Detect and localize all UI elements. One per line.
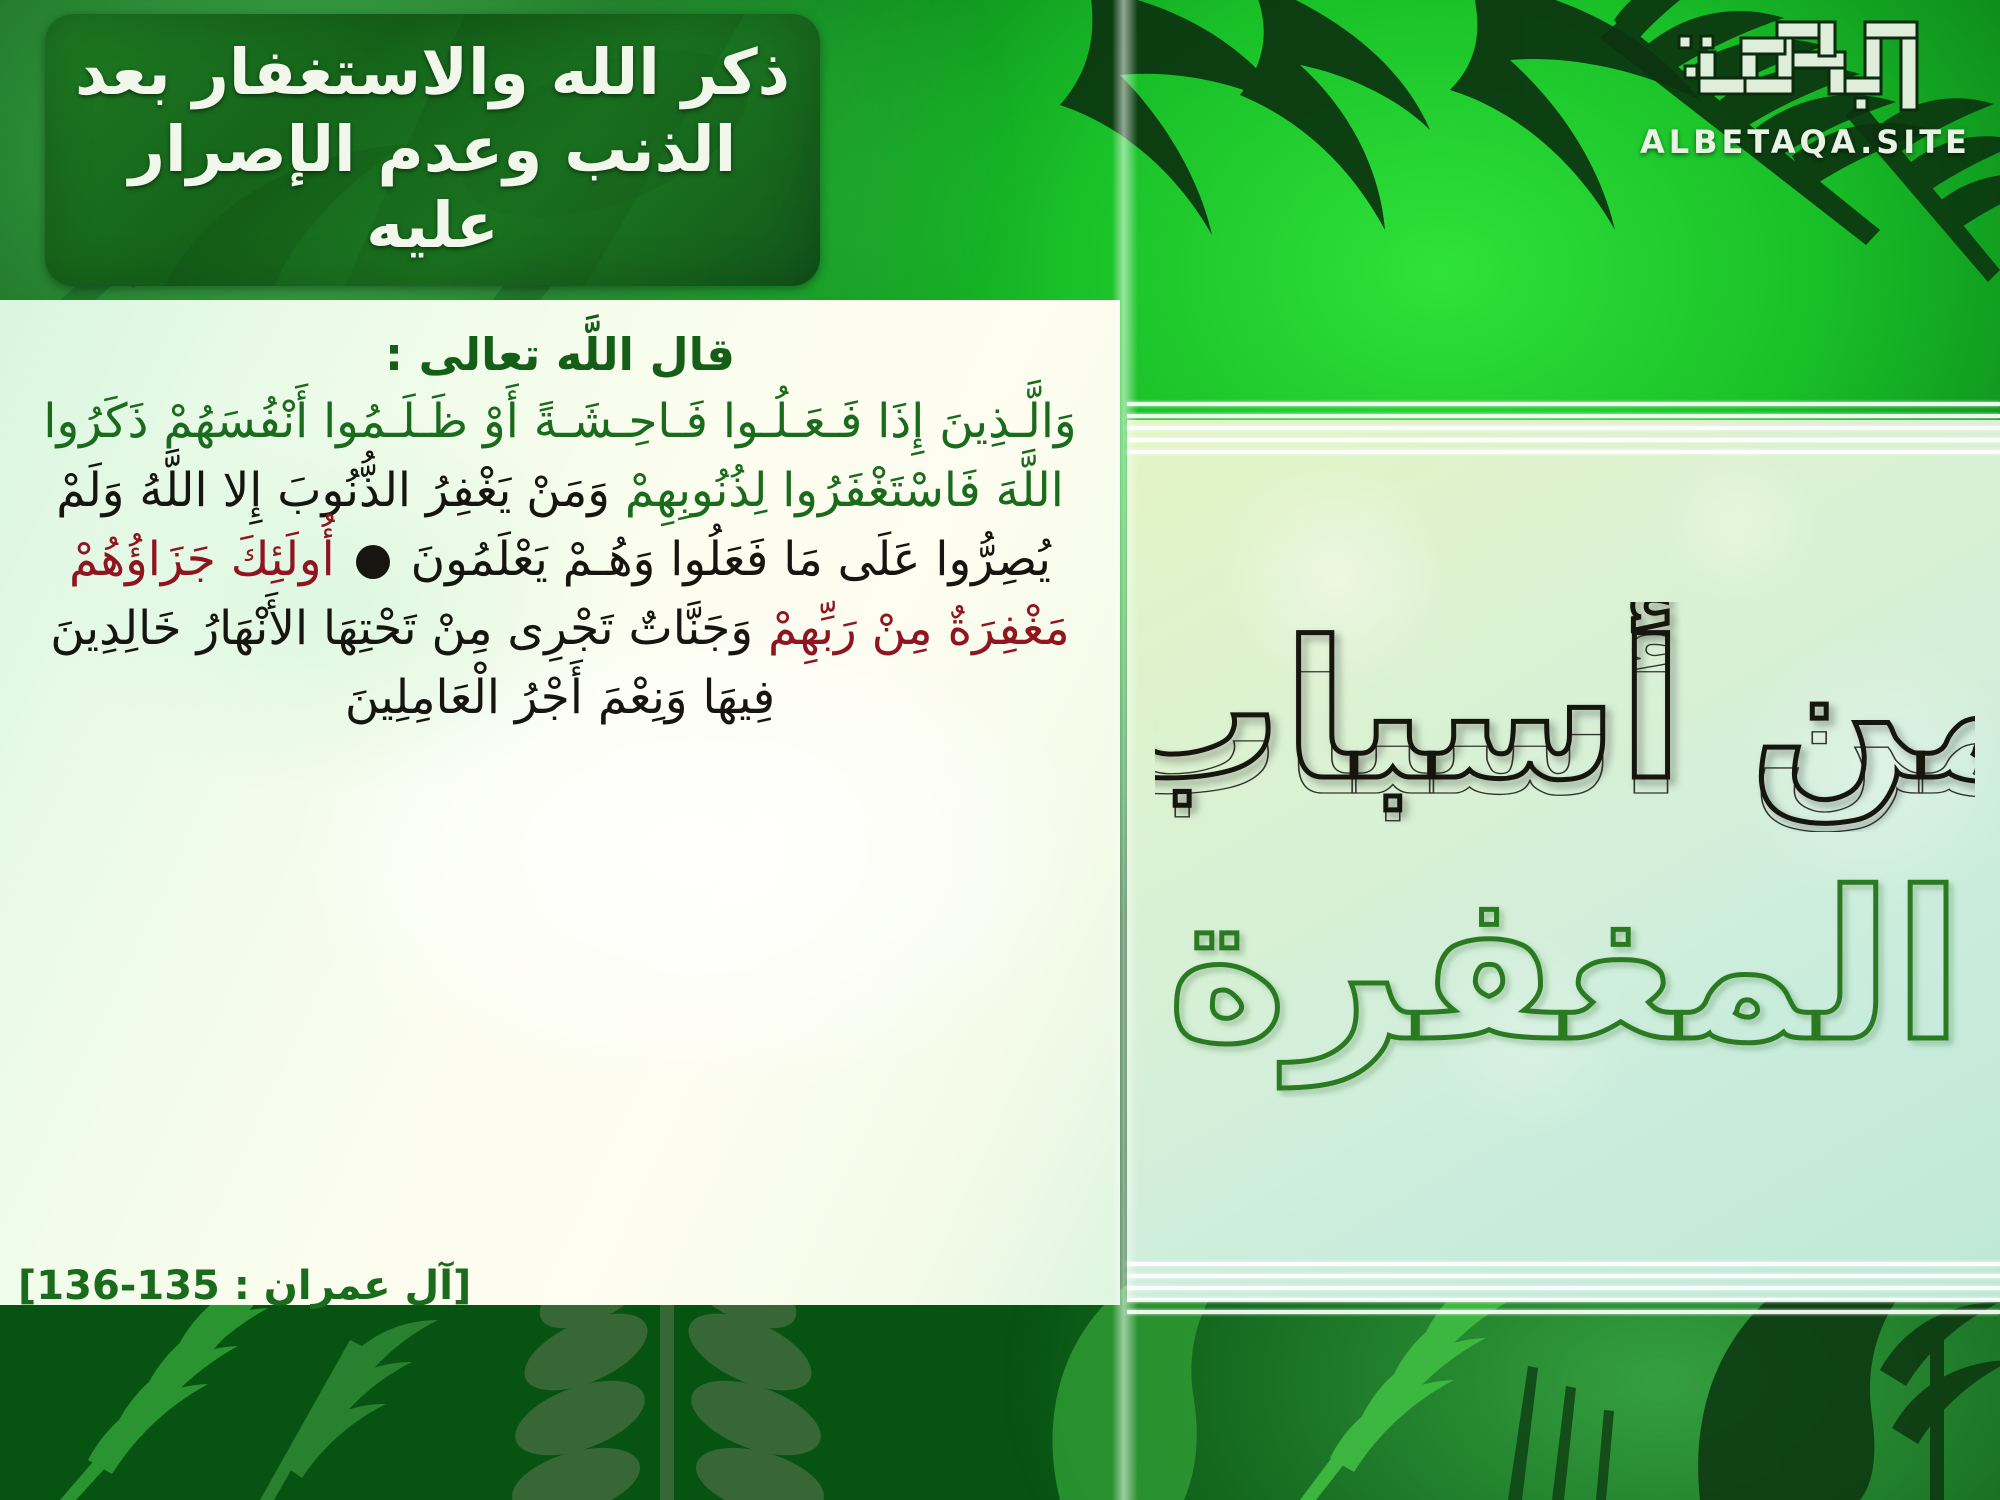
albetaqa-kufic-logo-icon bbox=[1655, 14, 1955, 119]
ayah-end-marker-icon bbox=[356, 545, 390, 579]
svg-text:المغفرة: المغفرة bbox=[1167, 849, 1963, 1088]
headline-group: من أسباب من أسباب المغفرة bbox=[1135, 440, 1995, 1260]
headline-line2-outlined: المغفرة bbox=[1155, 848, 1975, 1098]
quran-intro: قال اللَّه تعالى : bbox=[34, 328, 1086, 381]
title-banner: ذكر الله والاستغفار بعد الذنب وعدم الإصر… bbox=[45, 14, 820, 286]
svg-text:من أسباب: من أسباب bbox=[1155, 635, 1975, 832]
quran-verse: وَالَّـذِينَ إِذَا فَـعَـلُـوا فَـاحِـشَ… bbox=[34, 387, 1086, 732]
brand-logo[interactable]: ALBETAQA.SITE bbox=[1640, 14, 1970, 161]
headline-line1-outlined: من أسباب من أسباب bbox=[1155, 602, 1975, 832]
title-text: ذكر الله والاستغفار بعد الذنب وعدم الإصر… bbox=[45, 35, 820, 266]
quran-block: قال اللَّه تعالى : وَالَّـذِينَ إِذَا فَ… bbox=[0, 300, 1120, 1305]
brand-wordmark: ALBETAQA.SITE bbox=[1640, 123, 1970, 161]
verse-segment-4: وَجَنَّاتٌ تَجْرِى مِنْ تَحْتِهَا الأَنْ… bbox=[50, 601, 775, 725]
quran-citation: [آل عمران : 135-136] bbox=[18, 1263, 471, 1309]
infographic-card: من أسباب من أسباب المغفرة قال اللَّه تعا… bbox=[0, 0, 2000, 1500]
divider-bottom bbox=[1127, 1258, 2000, 1322]
